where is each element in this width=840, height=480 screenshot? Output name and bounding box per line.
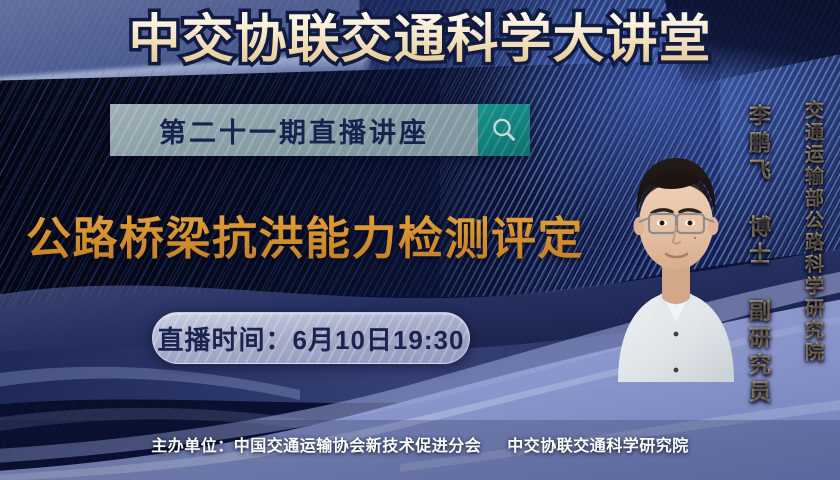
main-title-wrap: 中交协联交通科学大讲堂 中交协联交通科学大讲堂	[0, 12, 840, 68]
footer-organizer-2: 中交协联交通科学研究院	[507, 438, 689, 455]
live-time-text: 直播时间：6月10日19:30	[158, 320, 465, 357]
search-button[interactable]	[478, 104, 530, 156]
episode-label: 第二十一期直播讲座	[159, 111, 429, 150]
episode-banner-body: 第二十一期直播讲座	[110, 104, 478, 156]
footer-organizer-1: 中国交通运输协会新技术促进分会	[234, 438, 482, 455]
episode-banner: 第二十一期直播讲座	[110, 104, 530, 156]
livestream-poster: 中交协联交通科学大讲堂 中交协联交通科学大讲堂 第二十一期直播讲座 公路桥梁抗洪…	[0, 0, 840, 480]
speaker-portrait	[612, 120, 740, 382]
lecture-topic: 公路桥梁抗洪能力检测评定	[26, 202, 584, 267]
footer-organizers: 主办单位：中国交通运输协会新技术促进分会中交协联交通科学研究院	[0, 432, 840, 456]
live-time-badge: 直播时间：6月10日19:30	[152, 312, 470, 364]
search-icon	[489, 115, 519, 145]
speaker-name-title: 李鹏飞 博士 副研究员	[742, 104, 774, 407]
speaker-affiliation: 交通运输部公路科学研究院	[799, 100, 826, 364]
page-title: 中交协联交通科学大讲堂	[0, 12, 840, 68]
footer-organizer-label: 主办单位：	[151, 438, 234, 455]
